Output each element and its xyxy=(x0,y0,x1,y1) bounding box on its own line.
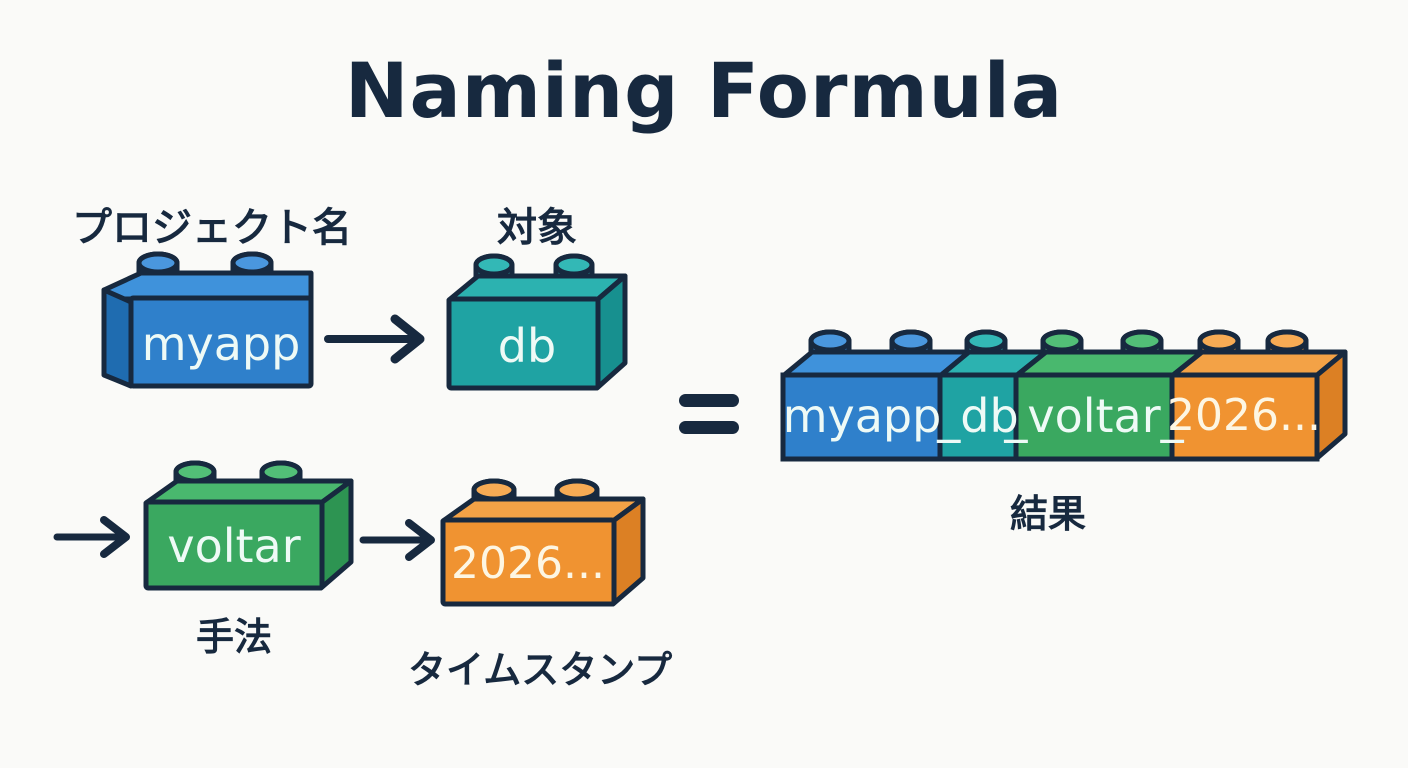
bricks-svg-layer: myapp db xyxy=(0,0,1408,768)
arrow-into-method xyxy=(57,520,126,554)
brick-timestamp-text: 2026... xyxy=(451,538,605,589)
arrow-project-to-target xyxy=(328,319,420,359)
brick-timestamp[interactable]: 2026... xyxy=(443,481,643,604)
brick-method-text: voltar xyxy=(167,519,300,573)
brick-method[interactable]: voltar xyxy=(146,463,351,588)
brick-target[interactable]: db xyxy=(449,256,625,388)
diagram-canvas: Naming Formula プロジェクト名 対象 手法 タイムスタンプ 結果 … xyxy=(0,0,1408,768)
brick-project-text: myapp xyxy=(142,317,301,371)
equals-sign xyxy=(679,394,739,434)
brick-result[interactable]: myapp _db _voltar_ 2026... xyxy=(783,332,1345,459)
arrow-method-to-timestamp xyxy=(363,523,431,557)
brick-result-text-project: myapp xyxy=(783,389,942,443)
brick-project[interactable]: myapp xyxy=(104,254,311,386)
brick-result-text-method: _voltar_ xyxy=(1003,389,1184,443)
brick-result-text-timestamp: 2026... xyxy=(1167,390,1321,441)
brick-target-text: db xyxy=(498,319,556,373)
